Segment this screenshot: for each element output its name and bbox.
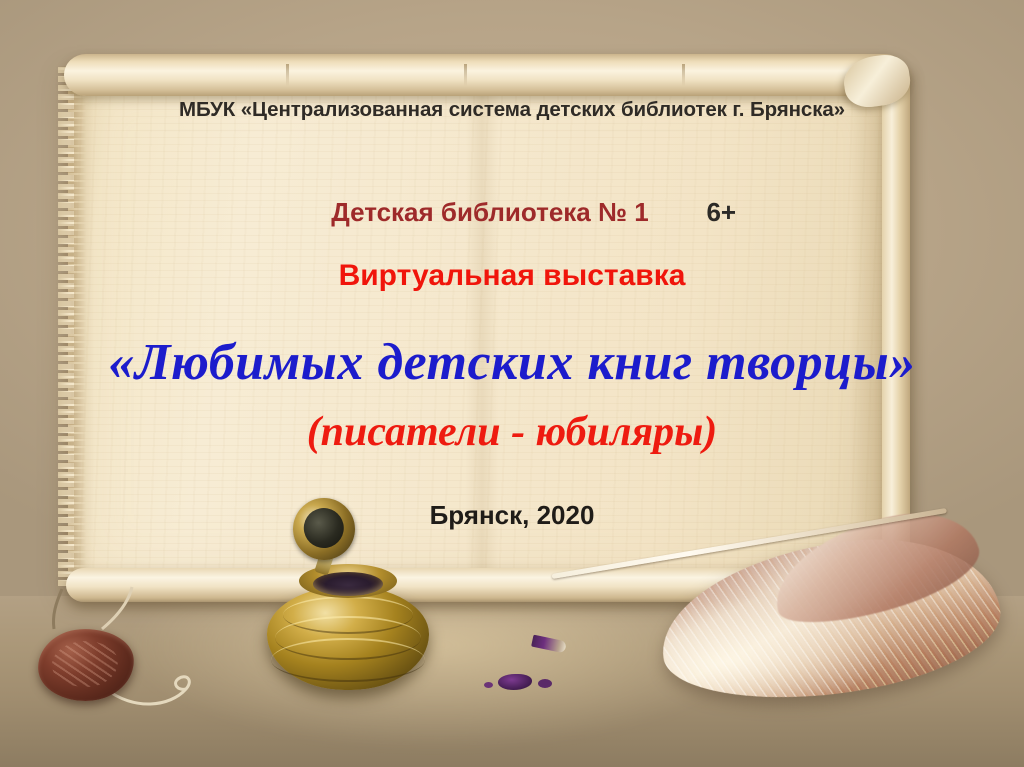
scroll-top-roll <box>64 54 906 96</box>
quill-nib <box>531 635 567 654</box>
quill-pen-icon <box>470 516 1024 767</box>
event-type-label: Виртуальная выставка <box>0 259 1024 293</box>
presentation-slide: МБУК «Централизованная система детских б… <box>0 0 1024 767</box>
ink-blot <box>484 682 493 688</box>
inkwell-lid <box>287 492 361 566</box>
library-branch-label: Детская библиотека № 1 <box>331 197 648 227</box>
inkwell-icon <box>255 498 440 698</box>
page-subtitle: (писатели - юбиляры) <box>0 408 1024 456</box>
organization-line: МБУК «Централизованная система детских б… <box>0 98 1024 122</box>
wax-seal-group <box>10 585 225 725</box>
scroll-roll-notch <box>682 64 685 86</box>
branch-row: Детская библиотека № 1 6+ <box>0 166 1024 259</box>
spacer <box>649 197 707 227</box>
scroll-roll-notch <box>464 64 467 86</box>
ink-blot <box>498 674 532 690</box>
inkwell-ring <box>271 638 425 682</box>
inkwell-mouth <box>313 572 383 596</box>
page-title: «Любимых детских книг творцы» <box>0 333 1024 392</box>
scroll-roll-notch <box>286 64 289 86</box>
age-rating-badge: 6+ <box>706 197 736 227</box>
ink-blot <box>538 679 552 688</box>
